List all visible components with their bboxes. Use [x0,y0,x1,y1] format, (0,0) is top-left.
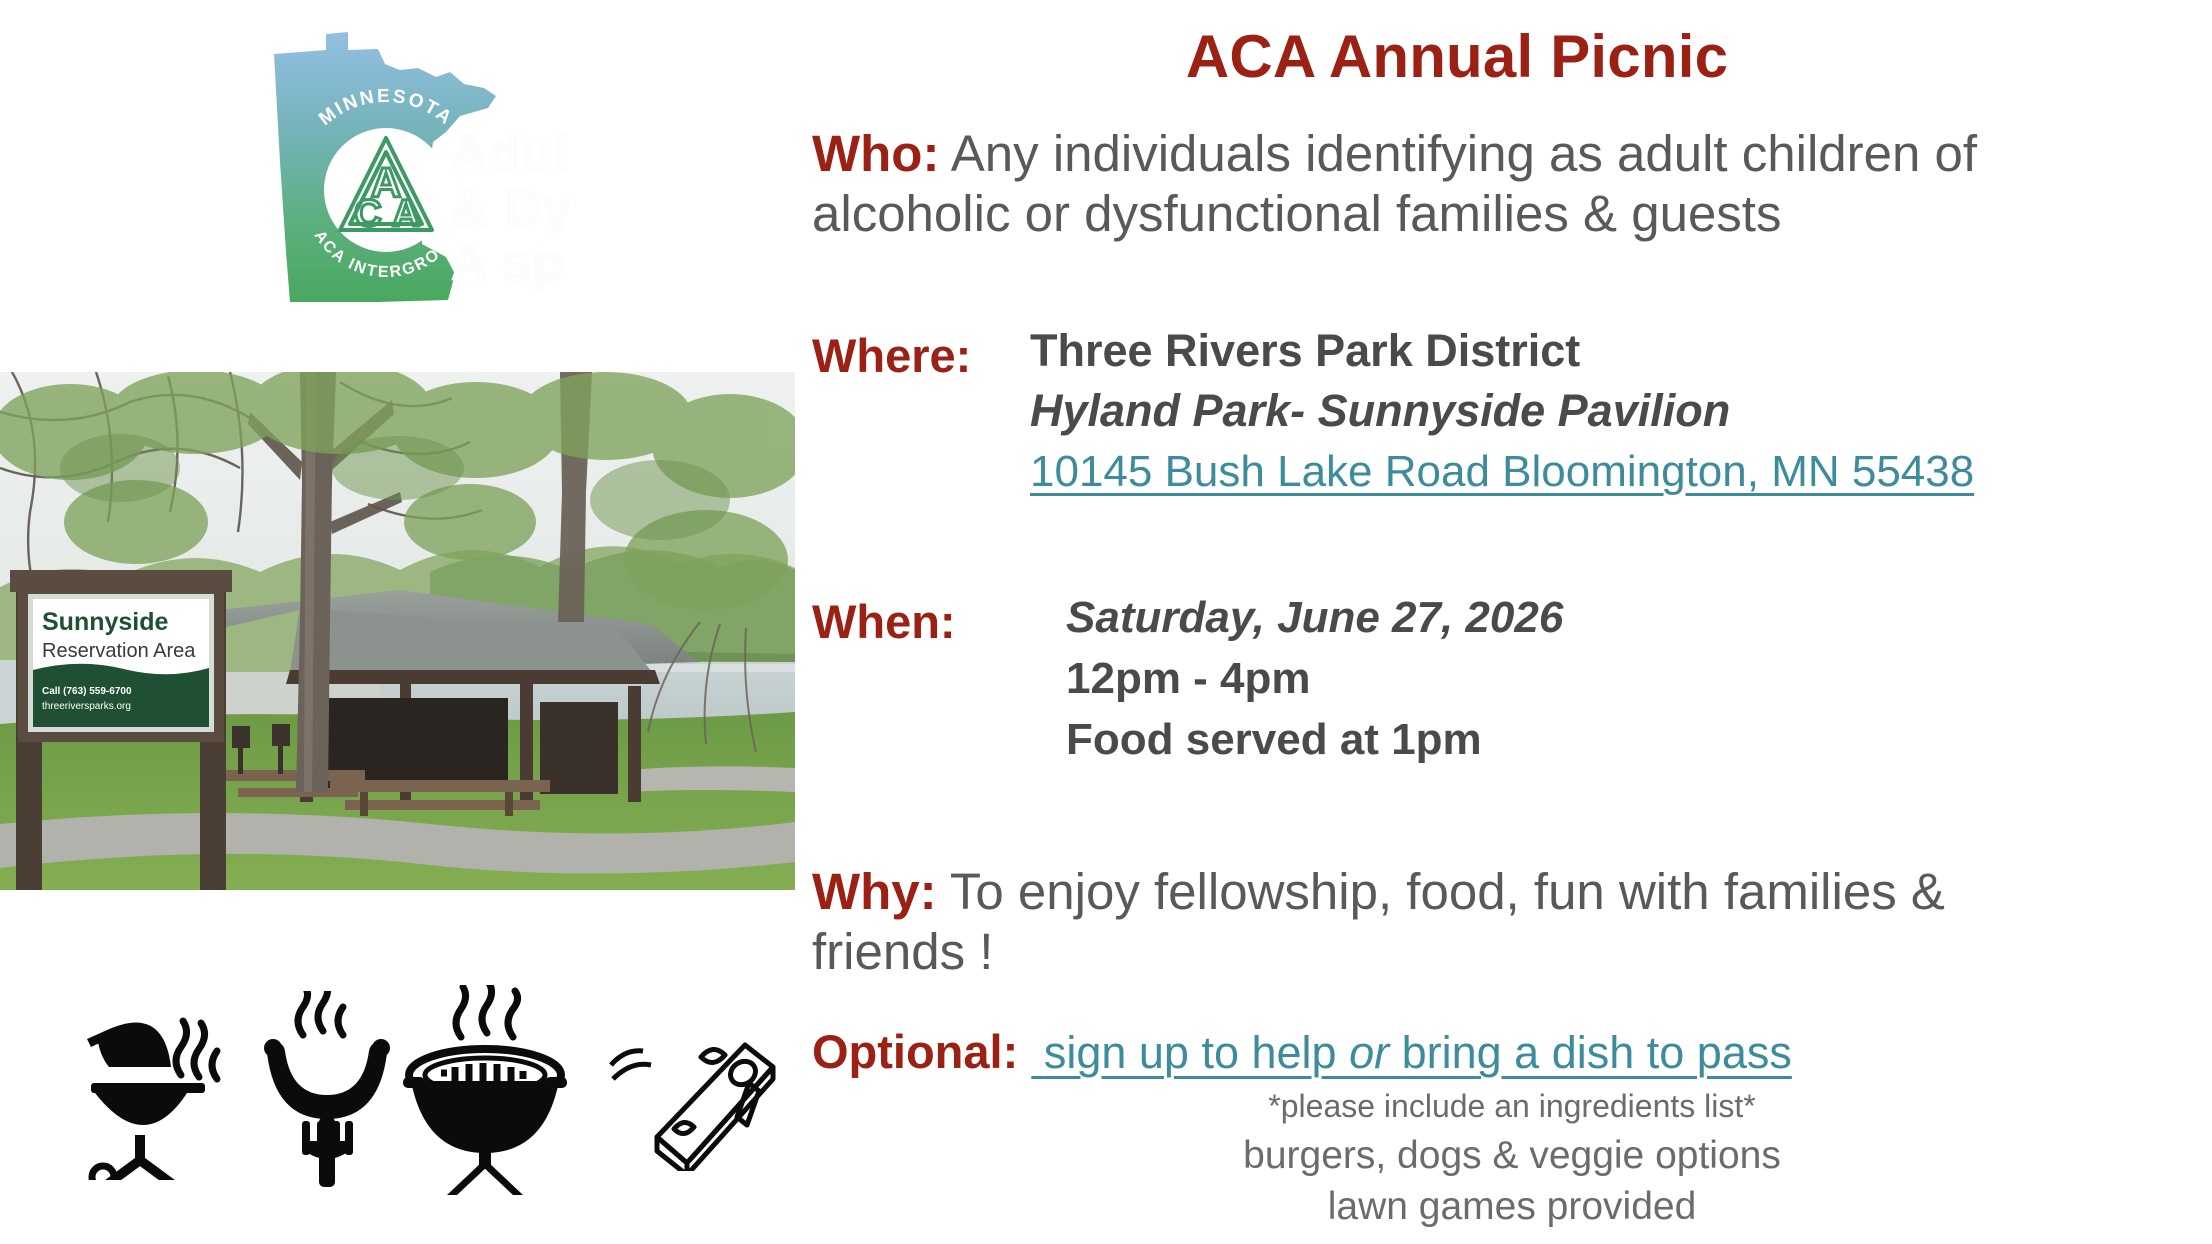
optional-signup-link[interactable]: sign up to help or bring a dish to pass [1031,1027,1792,1078]
optional-link-part1: sign up to help [1044,1027,1337,1078]
why-text: To enjoy fellowship, food, fun with fami… [812,863,1945,980]
who-text: Any individuals identifying as adult chi… [812,125,1977,242]
picnic-icon-row [75,985,775,1200]
when-date: Saturday, June 27, 2026 [1066,596,1563,640]
open-grill-icon [75,1005,245,1180]
who-label: Who: [812,125,939,182]
flyer-text-column: ACA Annual Picnic Who: Any individuals i… [812,0,2212,1244]
logo-svg: MINNESOTA ACA INTERGROUP A C A [250,12,580,312]
optional-note-3: lawn games provided [962,1187,2062,1226]
closed-grill-icon [395,985,575,1195]
page-title: ACA Annual Picnic [812,22,2102,91]
optional-link-or: or [1349,1027,1389,1078]
where-line-1: Three Rivers Park District [1030,328,1974,373]
optional-note-1: *please include an ingredients list* [962,1090,2062,1122]
svg-text:C: C [354,193,381,235]
cornhole-board-icon [597,1021,777,1171]
where-label: Where: [812,329,971,382]
when-time: 12pm - 4pm [1066,657,1563,701]
picnic-flyer: MINNESOTA ACA INTERGROUP A C A Adul & Dy… [0,0,2212,1244]
optional-link-part2: bring a dish to pass [1402,1027,1792,1078]
optional-section: Optional: sign up to help or bring a dis… [812,1024,2212,1079]
minnesota-aca-intergroup-logo: MINNESOTA ACA INTERGROUP A C A Adul & Dy… [250,12,580,312]
where-section: Where: Three Rivers Park District Hyland… [812,328,2212,383]
optional-label: Optional: [812,1025,1018,1078]
when-section: When: Saturday, June 27, 2026 12pm - 4pm… [812,594,2212,649]
who-section: Who: Any individuals identifying as adul… [812,124,2062,244]
sign-website-text: threeriversparks.org [42,701,131,712]
when-rows: Saturday, June 27, 2026 12pm - 4pm Food … [1066,596,1563,762]
why-label: Why: [812,863,937,920]
where-rows: Three Rivers Park District Hyland Park- … [1030,328,1974,494]
when-label: When: [812,595,956,648]
when-food-time: Food served at 1pm [1066,718,1563,762]
sign-subtitle-text: Reservation Area [42,640,196,662]
sign-phone-text: Call (763) 559-6700 [42,686,132,697]
optional-note-2: burgers, dogs & veggie options [962,1136,2062,1175]
svg-text:A: A [392,193,419,235]
sunnyside-pavilion-photo: Sunnyside Reservation Area Call (763) 55… [0,372,795,890]
sausage-on-fork-icon [253,991,403,1191]
sign-title-text: Sunnyside [42,608,169,636]
why-section: Why: To enjoy fellowship, food, fun with… [812,862,2062,982]
where-line-2: Hyland Park- Sunnyside Pavilion [1030,388,1974,433]
optional-notes: *please include an ingredients list* bur… [962,1090,2062,1226]
photo-svg: Sunnyside Reservation Area Call (763) 55… [0,372,795,890]
where-address-link[interactable]: 10145 Bush Lake Road Bloomington, MN 554… [1030,450,1974,494]
